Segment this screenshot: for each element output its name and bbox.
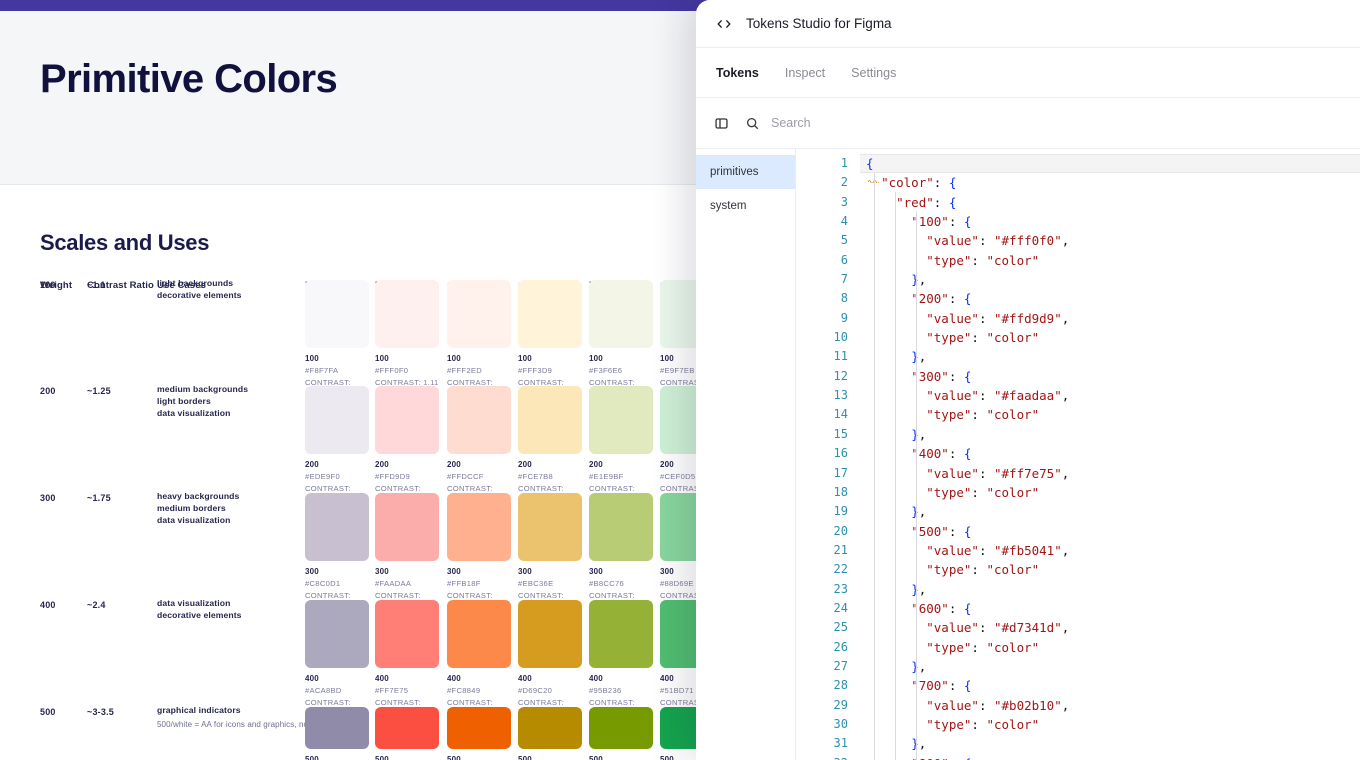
cell-use-cases: light backgroundsdecorative elements [157,278,297,302]
line-number: 13 [796,386,848,405]
line-number: 6 [796,251,848,270]
code-line[interactable]: "color": { [860,173,1360,192]
swatch-cell[interactable]: 200#FFD9D9CONTRAST: 1.30 [375,386,439,502]
panel-toolbar [696,98,1360,149]
sidebar-toggle-icon[interactable] [712,114,730,132]
use-case-item: medium borders [157,503,297,515]
code-line[interactable]: "type": "color" [860,251,1360,270]
color-swatch[interactable] [589,386,653,454]
code-line[interactable]: "value": "#d7341d", [860,618,1360,637]
swatch-hex-value: #ACA8BD [305,686,369,695]
code-line[interactable]: }, [860,734,1360,753]
color-swatch[interactable] [518,600,582,668]
tokens-studio-panel: Tokens Studio for Figma TokensInspectSet… [696,0,1360,760]
line-number: 8 [796,289,848,308]
color-swatch[interactable] [305,280,369,348]
use-case-item: decorative elements [157,610,297,622]
swatch-hex-value: #95B236 [589,686,653,695]
line-number: 27 [796,657,848,676]
token-set-primitives[interactable]: primitives [696,155,795,189]
swatch-weight-label: 500 [375,755,439,760]
line-number: 5 [796,231,848,250]
color-swatch[interactable] [375,600,439,668]
line-number: 17 [796,464,848,483]
page-title: Primitive Colors [40,57,337,102]
code-line[interactable]: }, [860,502,1360,521]
swatch-hex-value: #FFDCCF [447,472,511,481]
swatch-weight-label: 100 [375,354,439,363]
code-line[interactable]: "800": { [860,754,1360,760]
swatch-hex-value: #FFF0F0 [375,366,439,375]
code-line[interactable]: }, [860,580,1360,599]
swatch-hex-value: #FFF2ED [447,366,511,375]
swatch-cell[interactable]: 300#FFB18FCONTRAST: 1.78 [447,493,511,609]
token-set-system[interactable]: system [696,189,795,223]
swatch-hex-value: #FC8849 [447,686,511,695]
cell-weight: 100 [40,280,56,290]
line-number: 25 [796,618,848,637]
line-number: 4 [796,212,848,231]
color-swatch[interactable] [375,707,439,749]
color-swatch[interactable] [375,280,439,348]
cell-use-cases: heavy backgroundsmedium bordersdata visu… [157,491,297,527]
code-line[interactable]: "type": "color" [860,405,1360,424]
swatch-hex-value: #FAADAA [375,579,439,588]
line-number: 32 [796,754,848,760]
swatch-weight-label: 400 [305,674,369,683]
swatch-weight-label: 100 [518,354,582,363]
editor-line-numbers: 1234567891011121314151617181920212223242… [796,149,860,760]
line-number: 30 [796,715,848,734]
swatch-hex-value: #FFB18F [447,579,511,588]
line-number: 28 [796,676,848,695]
code-line[interactable]: "600": { [860,599,1360,618]
panel-title: Tokens Studio for Figma [746,16,892,31]
search-input[interactable] [771,116,1344,130]
cell-contrast-ratio: ~2.4 [87,600,106,610]
use-case-item: heavy backgrounds [157,491,297,503]
panel-tabs: TokensInspectSettings [696,48,1360,98]
color-swatch[interactable] [375,386,439,454]
line-number: 29 [796,696,848,715]
color-swatch[interactable] [305,600,369,668]
color-swatch[interactable] [447,386,511,454]
use-case-item: light backgrounds [157,278,297,290]
code-line[interactable]: "value": "#fff0f0", [860,231,1360,250]
section-title: Scales and Uses [40,230,209,256]
swatch-hex-value: #FF7E75 [375,686,439,695]
color-swatch[interactable] [518,386,582,454]
editor-code[interactable]: { "color": { "red": { "100": { "value": … [860,149,1360,760]
code-line[interactable]: "400": { [860,444,1360,463]
swatch-weight-label: 300 [447,567,511,576]
swatch-hex-value: #FCE7B8 [518,472,582,481]
swatch-hex-value: #F8F7FA [305,366,369,375]
code-line[interactable]: "type": "color" [860,638,1360,657]
swatch-cell[interactable]: 300#EBC36ECONTRAST: 1.67 [518,493,582,609]
code-line[interactable]: "value": "#fb5041", [860,541,1360,560]
tab-inspect[interactable]: Inspect [785,66,825,80]
code-line[interactable]: "value": "#b02b10", [860,696,1360,715]
color-swatch[interactable] [305,386,369,454]
line-number: 9 [796,309,848,328]
line-number: 12 [796,367,848,386]
color-swatch[interactable] [589,600,653,668]
swatch-weight-label: 200 [447,460,511,469]
color-swatch[interactable] [305,707,369,749]
color-swatch[interactable] [447,493,511,561]
swatch-cell[interactable]: 200#FFDCCFCONTRAST: 1.28 [447,386,511,502]
swatch-weight-label: 200 [589,460,653,469]
swatch-weight-label: 200 [518,460,582,469]
code-brackets-icon [716,16,732,32]
line-number: 14 [796,405,848,424]
swatch-weight-label: 400 [447,674,511,683]
swatch-cell[interactable]: 500#769A00 [589,707,653,760]
tab-tokens[interactable]: Tokens [716,66,759,80]
line-number: 19 [796,502,848,521]
indent-guide [874,173,875,760]
swatch-cell[interactable]: 100#F3F6E6CONTRAST: 1.10 [589,280,653,396]
cell-weight: 200 [40,386,56,396]
screen-root: Primitive Colors Scales and Uses WeightC… [0,0,1360,760]
cell-weight: 400 [40,600,56,610]
swatch-cell[interactable]: 200#E1E9BFCONTRAST: 1.26 [589,386,653,502]
swatch-weight-label: 100 [305,354,369,363]
code-line[interactable]: "type": "color" [860,328,1360,347]
line-number: 2 [796,173,848,192]
panel-titlebar: Tokens Studio for Figma [696,0,1360,48]
code-line[interactable]: }, [860,657,1360,676]
swatch-hex-value: #FFD9D9 [375,472,439,481]
swatch-cell[interactable]: 100#FFF0F0CONTRAST: 1.11 [375,280,439,387]
swatch-cell[interactable]: 100#FFF2EDCONTRAST: 1.10 [447,280,511,396]
swatch-weight-label: 400 [589,674,653,683]
use-case-item: data visualization [157,515,297,527]
search-field[interactable] [743,114,1344,132]
line-number: 23 [796,580,848,599]
color-swatch[interactable] [447,600,511,668]
cell-use-cases: medium backgroundslight bordersdata visu… [157,384,297,420]
indent-guide [916,211,917,760]
swatch-cell[interactable]: 300#FAADAACONTRAST: 1.81 [375,493,439,609]
swatch-weight-label: 100 [589,354,653,363]
line-number: 24 [796,599,848,618]
color-swatch[interactable] [589,493,653,561]
cell-use-cases: graphical indicators500/white = AA for i… [157,705,297,730]
cell-weight: 300 [40,493,56,503]
use-case-item: decorative elements [157,290,297,302]
code-line[interactable]: "value": "#faadaa", [860,386,1360,405]
swatch-weight-label: 400 [518,674,582,683]
cell-use-cases: data visualizationdecorative elements [157,598,297,622]
code-line[interactable]: "300": { [860,367,1360,386]
code-line[interactable]: "type": "color" [860,715,1360,734]
line-number: 21 [796,541,848,560]
code-line[interactable]: "type": "color" [860,483,1360,502]
color-swatch[interactable] [518,280,582,348]
color-swatch[interactable] [518,707,582,749]
swatch-cell[interactable]: 200#EDE9F0CONTRAST: 1.20 [305,386,369,502]
line-number: 3 [796,193,848,212]
swatch-weight-label: 500 [589,755,653,760]
line-number: 16 [796,444,848,463]
use-case-item: graphical indicators [157,705,297,717]
swatch-hex-value: #C8C0D1 [305,579,369,588]
code-line[interactable]: }, [860,347,1360,366]
line-number: 18 [796,483,848,502]
swatch-weight-label: 200 [305,460,369,469]
swatch-cell[interactable]: 300#C8C0D1CONTRAST: 1.76 [305,493,369,609]
swatch-hex-value: #FFF3D9 [518,366,582,375]
line-number: 1 [796,154,848,173]
swatch-hex-value: #B8CC76 [589,579,653,588]
swatch-cell[interactable]: 100#F8F7FACONTRAST: 1.07 [305,280,369,396]
code-line[interactable]: "500": { [860,522,1360,541]
code-line[interactable]: "value": "#ffd9d9", [860,309,1360,328]
code-line[interactable]: }, [860,425,1360,444]
swatch-cell[interactable]: 300#B8CC76CONTRAST: 1.76 [589,493,653,609]
color-swatch[interactable] [447,707,511,749]
code-line[interactable]: "value": "#ff7e75", [860,464,1360,483]
line-number: 26 [796,638,848,657]
code-line[interactable]: { [860,154,1360,173]
color-swatch[interactable] [305,493,369,561]
use-case-item: data visualization [157,408,297,420]
swatch-cell[interactable]: 500#8F8BA8 [305,707,369,760]
panel-main: primitivessystem 12345678910111213141516… [696,149,1360,760]
line-number: 7 [796,270,848,289]
swatch-cell[interactable]: 400#FC8849CONTRAST: 2.43 [447,600,511,716]
line-number: 22 [796,560,848,579]
swatch-weight-label: 300 [589,567,653,576]
indent-guide [895,192,896,760]
cell-contrast-ratio: ~1.75 [87,493,111,503]
code-line[interactable]: "red": { [860,193,1360,212]
swatch-hex-value: #F3F6E6 [589,366,653,375]
swatch-weight-label: 300 [375,567,439,576]
line-number: 20 [796,522,848,541]
cell-contrast-ratio: ~1.25 [87,386,111,396]
color-swatch[interactable] [518,493,582,561]
swatch-hex-value: #D69C20 [518,686,582,695]
swatch-cell[interactable]: 200#FCE7B8CONTRAST: 1.22 [518,386,582,502]
cell-weight: 500 [40,707,56,717]
color-swatch[interactable] [589,707,653,749]
swatch-weight-label: 400 [375,674,439,683]
swatch-cell[interactable]: 400#95B236CONTRAST: 2.41 [589,600,653,716]
json-editor[interactable]: 1234567891011121314151617181920212223242… [796,149,1360,760]
line-number: 11 [796,347,848,366]
code-line[interactable]: "type": "color" [860,560,1360,579]
swatch-weight-label: 500 [518,755,582,760]
search-icon [743,114,761,132]
use-case-item: light borders [157,396,297,408]
swatch-weight-label: 300 [305,567,369,576]
swatch-cell[interactable]: 100#FFF3D9CONTRAST: 1.10 [518,280,582,396]
line-number: 15 [796,425,848,444]
swatch-cell[interactable]: 500#B78B00 [518,707,582,760]
color-swatch[interactable] [447,280,511,348]
swatch-weight-label: 500 [447,755,511,760]
swatch-weight-label: 200 [375,460,439,469]
swatch-hex-value: #E1E9BF [589,472,653,481]
cell-contrast-ratio: ~3-3.5 [87,707,114,717]
code-line[interactable]: "100": { [860,212,1360,231]
use-case-item: data visualization [157,598,297,610]
swatch-weight-label: 500 [305,755,369,760]
swatch-hex-value: #EDE9F0 [305,472,369,481]
use-case-item: medium backgrounds [157,384,297,396]
code-line[interactable]: }, [860,270,1360,289]
swatch-cell[interactable]: 400#ACA8BDCONTRAST: 2.35 [305,600,369,716]
swatch-cell[interactable]: 400#D69C20CONTRAST: 2.43 [518,600,582,716]
token-set-list: primitivessystem [696,149,796,760]
swatch-weight-label: 300 [518,567,582,576]
line-number: 31 [796,734,848,753]
swatch-cell[interactable]: 400#FF7E75CONTRAST: 2.47 [375,600,439,716]
swatch-cell[interactable]: 500#FB5041 [375,707,439,760]
code-line[interactable]: "200": { [860,289,1360,308]
code-line[interactable]: "700": { [860,676,1360,695]
cell-contrast-ratio: ~1.1 [87,280,106,290]
tab-settings[interactable]: Settings [851,66,896,80]
color-swatch[interactable] [375,493,439,561]
line-number: 10 [796,328,848,347]
swatch-cell[interactable]: 500#EF6000 [447,707,511,760]
swatch-weight-label: 100 [447,354,511,363]
color-swatch[interactable] [589,280,653,348]
swatch-hex-value: #EBC36E [518,579,582,588]
